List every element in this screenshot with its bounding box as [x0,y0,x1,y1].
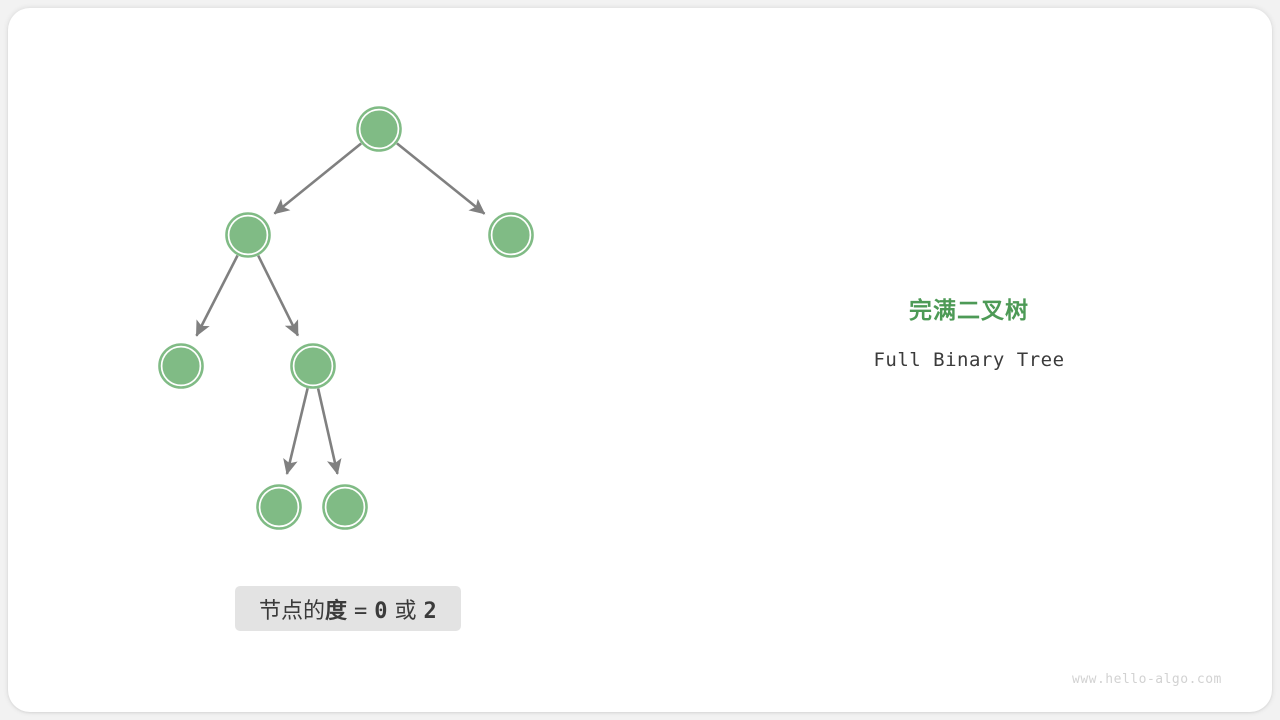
tree-node-core [327,489,363,525]
tree-node [357,107,401,151]
degree-conjunction: 或 [395,599,417,624]
degree-annotation-text: 节点的度=0或2 [259,593,437,625]
tree-node [323,485,367,529]
degree-prefix: 节点的 [259,599,325,624]
diagram-canvas: 完满二叉树 Full Binary Tree 节点的度=0或2 www.hell… [0,0,1280,720]
tree-node-core [361,111,397,147]
degree-equals: = [354,599,367,624]
tree-edge [318,388,337,473]
tree-node-core [230,217,266,253]
tree-edge [196,255,237,335]
tree-node [489,213,533,257]
tree-node [291,344,335,388]
tree-node-layer [159,107,533,529]
degree-value-a: 0 [374,599,387,624]
tree-edge [258,256,298,336]
tree-edge [274,143,361,213]
tree-node [257,485,301,529]
tree-node-core [261,489,297,525]
degree-value-b: 2 [424,599,437,624]
tree-node [159,344,203,388]
degree-bold-term: 度 [325,599,347,624]
caption-subtitle: Full Binary Tree [864,349,1074,371]
tree-edge [287,388,308,474]
tree-node-core [295,348,331,384]
tree-node-core [163,348,199,384]
caption-title: 完满二叉树 [864,296,1074,325]
tree-node-core [493,217,529,253]
degree-annotation-chip: 节点的度=0或2 [235,586,461,631]
binary-tree-diagram [0,0,1280,720]
tree-edge-layer [196,143,484,474]
caption-block: 完满二叉树 Full Binary Tree [864,296,1074,371]
tree-edge [397,143,485,213]
tree-node [226,213,270,257]
site-watermark: www.hello-algo.com [1072,672,1222,687]
